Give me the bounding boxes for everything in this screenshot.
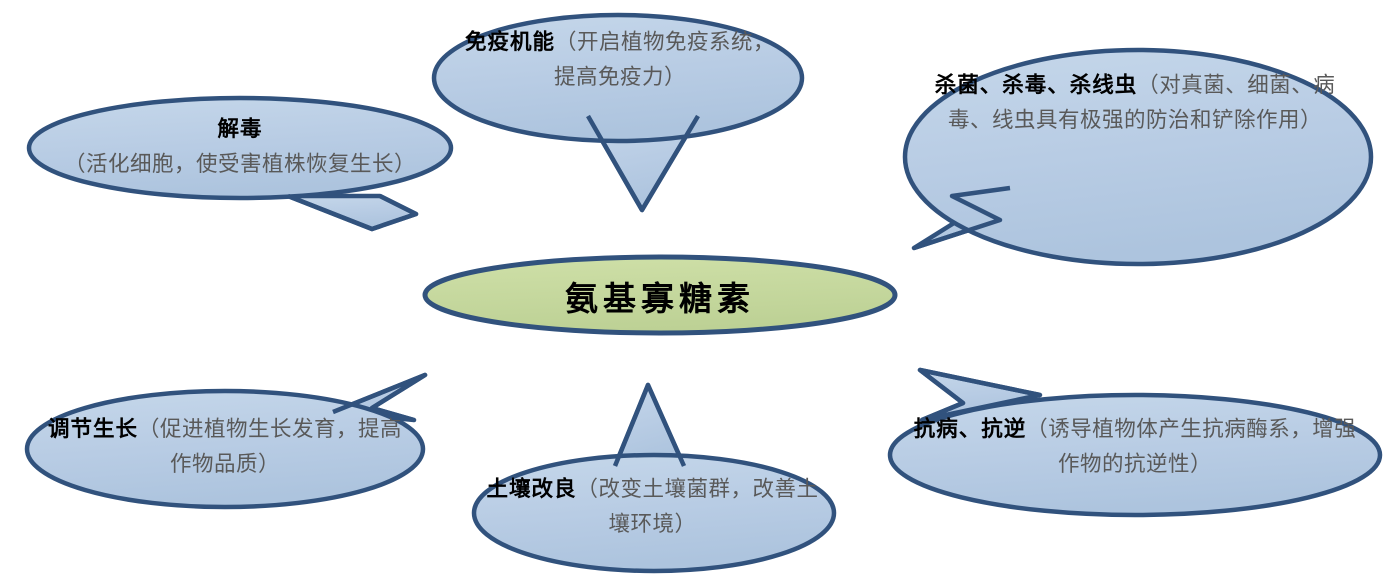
callout-immunity-body xyxy=(434,15,802,141)
callout-growth-shape[interactable] xyxy=(27,375,425,507)
callout-detox-shape[interactable] xyxy=(29,98,451,229)
diagram-canvas: 解毒（活化细胞，使受害植株恢复生长） 免疫机能（开启植物免疫系统，提高免疫力） … xyxy=(0,0,1391,588)
callout-growth-body xyxy=(27,391,423,507)
center-node-ellipse[interactable] xyxy=(425,257,895,333)
callout-resist-shape[interactable] xyxy=(890,370,1380,515)
callout-soil-shape[interactable] xyxy=(474,385,834,571)
callout-soil-body xyxy=(474,455,834,571)
callout-detox-body xyxy=(29,98,451,198)
callout-kill-shape[interactable] xyxy=(905,50,1371,264)
diagram-shapes xyxy=(0,0,1391,588)
callout-detox-tail xyxy=(288,196,416,229)
callout-immunity-shape[interactable] xyxy=(434,15,802,210)
callout-kill-body xyxy=(905,50,1371,264)
callout-resist-body xyxy=(890,395,1380,515)
